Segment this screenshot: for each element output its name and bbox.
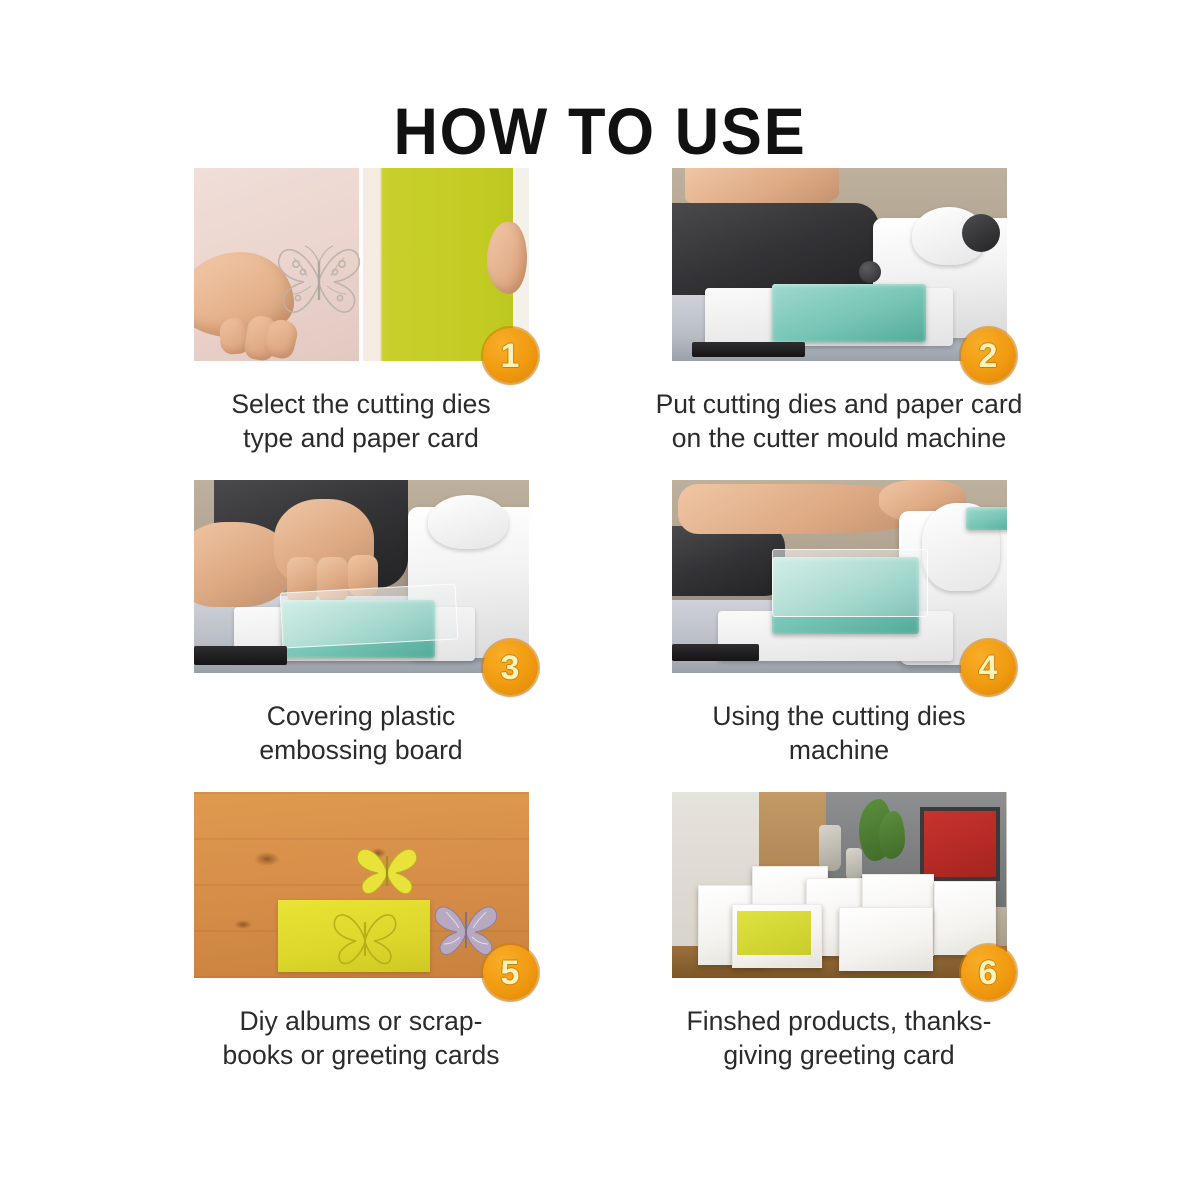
yellow-butterfly-cutout [350, 840, 424, 898]
thumb-shape [487, 222, 527, 294]
steps-row-1: 1 Select the cutting dies type and paper… [0, 168, 1200, 480]
step-badge-6: 6 [961, 945, 1016, 1000]
steps-row-3: 5 Diy albums or scrap- books or greeting… [0, 792, 1200, 1092]
step-3-photo-wrap: 3 [194, 480, 529, 673]
photo-finished-greeting-cards [672, 792, 1007, 978]
how-to-use-infographic: HOW TO USE [0, 0, 1200, 1200]
dark-board [194, 646, 288, 665]
caption-line: books or greeting cards [161, 1038, 561, 1072]
photo-using-machine [672, 480, 1007, 673]
steps-row-2: 3 Covering plastic embossing board [0, 480, 1200, 792]
step-number: 6 [979, 956, 998, 990]
step-number: 4 [979, 651, 998, 685]
plant-leaf [879, 811, 905, 859]
caption-line: Select the cutting dies [161, 387, 561, 421]
caption-line: giving greeting card [639, 1038, 1039, 1072]
photo-dies-on-machine [672, 168, 1007, 361]
caption-line: machine [639, 733, 1039, 767]
step-4-photo-wrap: 4 [672, 480, 1007, 673]
machine-handle [428, 495, 508, 549]
step-badge-4: 4 [961, 640, 1016, 695]
clear-plastic-board [279, 584, 458, 649]
caption-line: Using the cutting dies [639, 699, 1039, 733]
step-4-caption: Using the cutting dies machine [639, 699, 1039, 767]
photo-covering-plastic-board [194, 480, 529, 673]
dark-board [672, 644, 759, 661]
step-5-photo-wrap: 5 [194, 792, 529, 978]
photo-panel-left [194, 168, 364, 361]
greeting-card-front [839, 907, 933, 971]
step-6-photo-wrap: 6 [672, 792, 1007, 978]
shirt-shape [672, 526, 786, 595]
step-badge-2: 2 [961, 328, 1016, 383]
handle-grip [962, 214, 1000, 252]
step-5-caption: Diy albums or scrap- books or greeting c… [161, 1004, 561, 1072]
cutting-plate-back [966, 507, 1006, 530]
step-2-caption: Put cutting dies and paper card on the c… [639, 387, 1039, 455]
wood-knot [254, 852, 280, 866]
caption-line: Put cutting dies and paper card [639, 387, 1039, 421]
step-number: 1 [501, 339, 520, 373]
caption-line: Diy albums or scrap- [161, 1004, 561, 1038]
card-yellow-panel [737, 911, 811, 955]
clear-plastic-board [772, 549, 928, 617]
caption-line: type and paper card [161, 421, 561, 455]
step-1: 1 Select the cutting dies type and paper… [181, 168, 541, 480]
roller-knob [859, 261, 881, 283]
photo-diy-results-on-wood [194, 792, 529, 978]
step-badge-1: 1 [483, 328, 538, 383]
step-number: 2 [979, 339, 998, 373]
step-badge-3: 3 [483, 640, 538, 695]
step-2: 2 Put cutting dies and paper card on the… [659, 168, 1019, 480]
step-1-photo-wrap: 1 [194, 168, 529, 361]
step-6: 6 Finshed products, thanks- giving greet… [659, 792, 1019, 1092]
wood-knot [234, 920, 252, 929]
frame-inner [924, 811, 996, 877]
caption-line: embossing board [161, 733, 561, 767]
dark-board [692, 342, 806, 357]
greeting-card-front [732, 904, 822, 968]
butterfly-die-icon [270, 234, 368, 320]
step-5: 5 Diy albums or scrap- books or greeting… [181, 792, 541, 1092]
steps-grid: 1 Select the cutting dies type and paper… [0, 168, 1200, 1092]
caption-line: on the cutter mould machine [639, 421, 1039, 455]
step-3: 3 Covering plastic embossing board [181, 480, 541, 792]
step-6-caption: Finshed products, thanks- giving greetin… [639, 1004, 1039, 1072]
page-title: HOW TO USE [42, 96, 1158, 166]
vase [819, 825, 841, 871]
caption-line: Covering plastic [161, 699, 561, 733]
step-3-caption: Covering plastic embossing board [161, 699, 561, 767]
caption-line: Finshed products, thanks- [639, 1004, 1039, 1038]
step-2-photo-wrap: 2 [672, 168, 1007, 361]
step-4: 4 Using the cutting dies machine [659, 480, 1019, 792]
step-badge-5: 5 [483, 945, 538, 1000]
butterfly-negative-cutout [326, 904, 404, 968]
red-framed-sign [920, 807, 1000, 881]
step-1-caption: Select the cutting dies type and paper c… [161, 387, 561, 455]
photo-select-dies-and-card [194, 168, 529, 361]
step-number: 5 [501, 956, 520, 990]
step-number: 3 [501, 651, 520, 685]
cutting-plate [772, 284, 926, 342]
